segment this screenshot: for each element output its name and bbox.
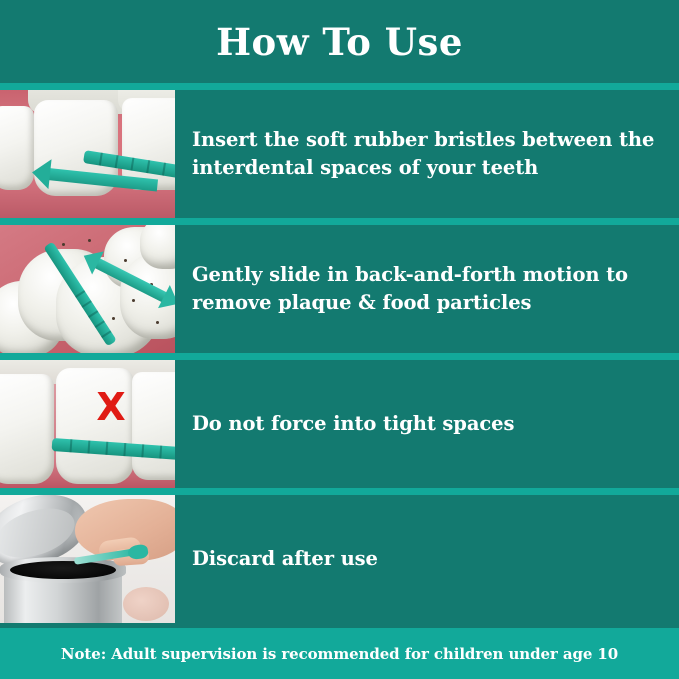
how-to-use-infographic: How To Use <box>0 0 679 679</box>
step-2-instruction: Gently slide in back-and-forth motion to… <box>192 261 667 318</box>
red-x-warning-icon: X <box>96 390 126 424</box>
teeth-warning-illustration: X <box>0 360 175 488</box>
step-1-text-block: Insert the soft rubber bristles between … <box>175 90 679 218</box>
footer-note-text: Note: Adult supervision is recommended f… <box>61 645 618 663</box>
step-row-1: Insert the soft rubber bristles between … <box>0 90 679 218</box>
header-banner: How To Use <box>0 0 679 83</box>
page-title: How To Use <box>216 20 463 64</box>
step-4-text-block: Discard after use <box>175 495 679 623</box>
step-1-instruction: Insert the soft rubber bristles between … <box>192 126 667 183</box>
step-4-instruction: Discard after use <box>192 545 378 573</box>
footer-note-bar: Note: Adult supervision is recommended f… <box>0 628 679 679</box>
step-4-image <box>0 495 175 623</box>
discard-in-trash-illustration <box>0 495 175 623</box>
step-3-instruction: Do not force into tight spaces <box>192 410 514 438</box>
step-2-text-block: Gently slide in back-and-forth motion to… <box>175 225 679 353</box>
step-1-image <box>0 90 175 218</box>
step-2-image <box>0 225 175 353</box>
step-3-image: X <box>0 360 175 488</box>
step-row-3: X Do not force into tight spaces <box>0 360 679 488</box>
molar-top-view-illustration <box>0 225 175 353</box>
step-row-4: Discard after use <box>0 495 679 623</box>
teeth-side-view-illustration <box>0 90 175 218</box>
step-row-2: Gently slide in back-and-forth motion to… <box>0 225 679 353</box>
divider-4 <box>0 488 679 495</box>
divider-3 <box>0 353 679 360</box>
step-3-text-block: Do not force into tight spaces <box>175 360 679 488</box>
divider-1 <box>0 83 679 90</box>
divider-2 <box>0 218 679 225</box>
